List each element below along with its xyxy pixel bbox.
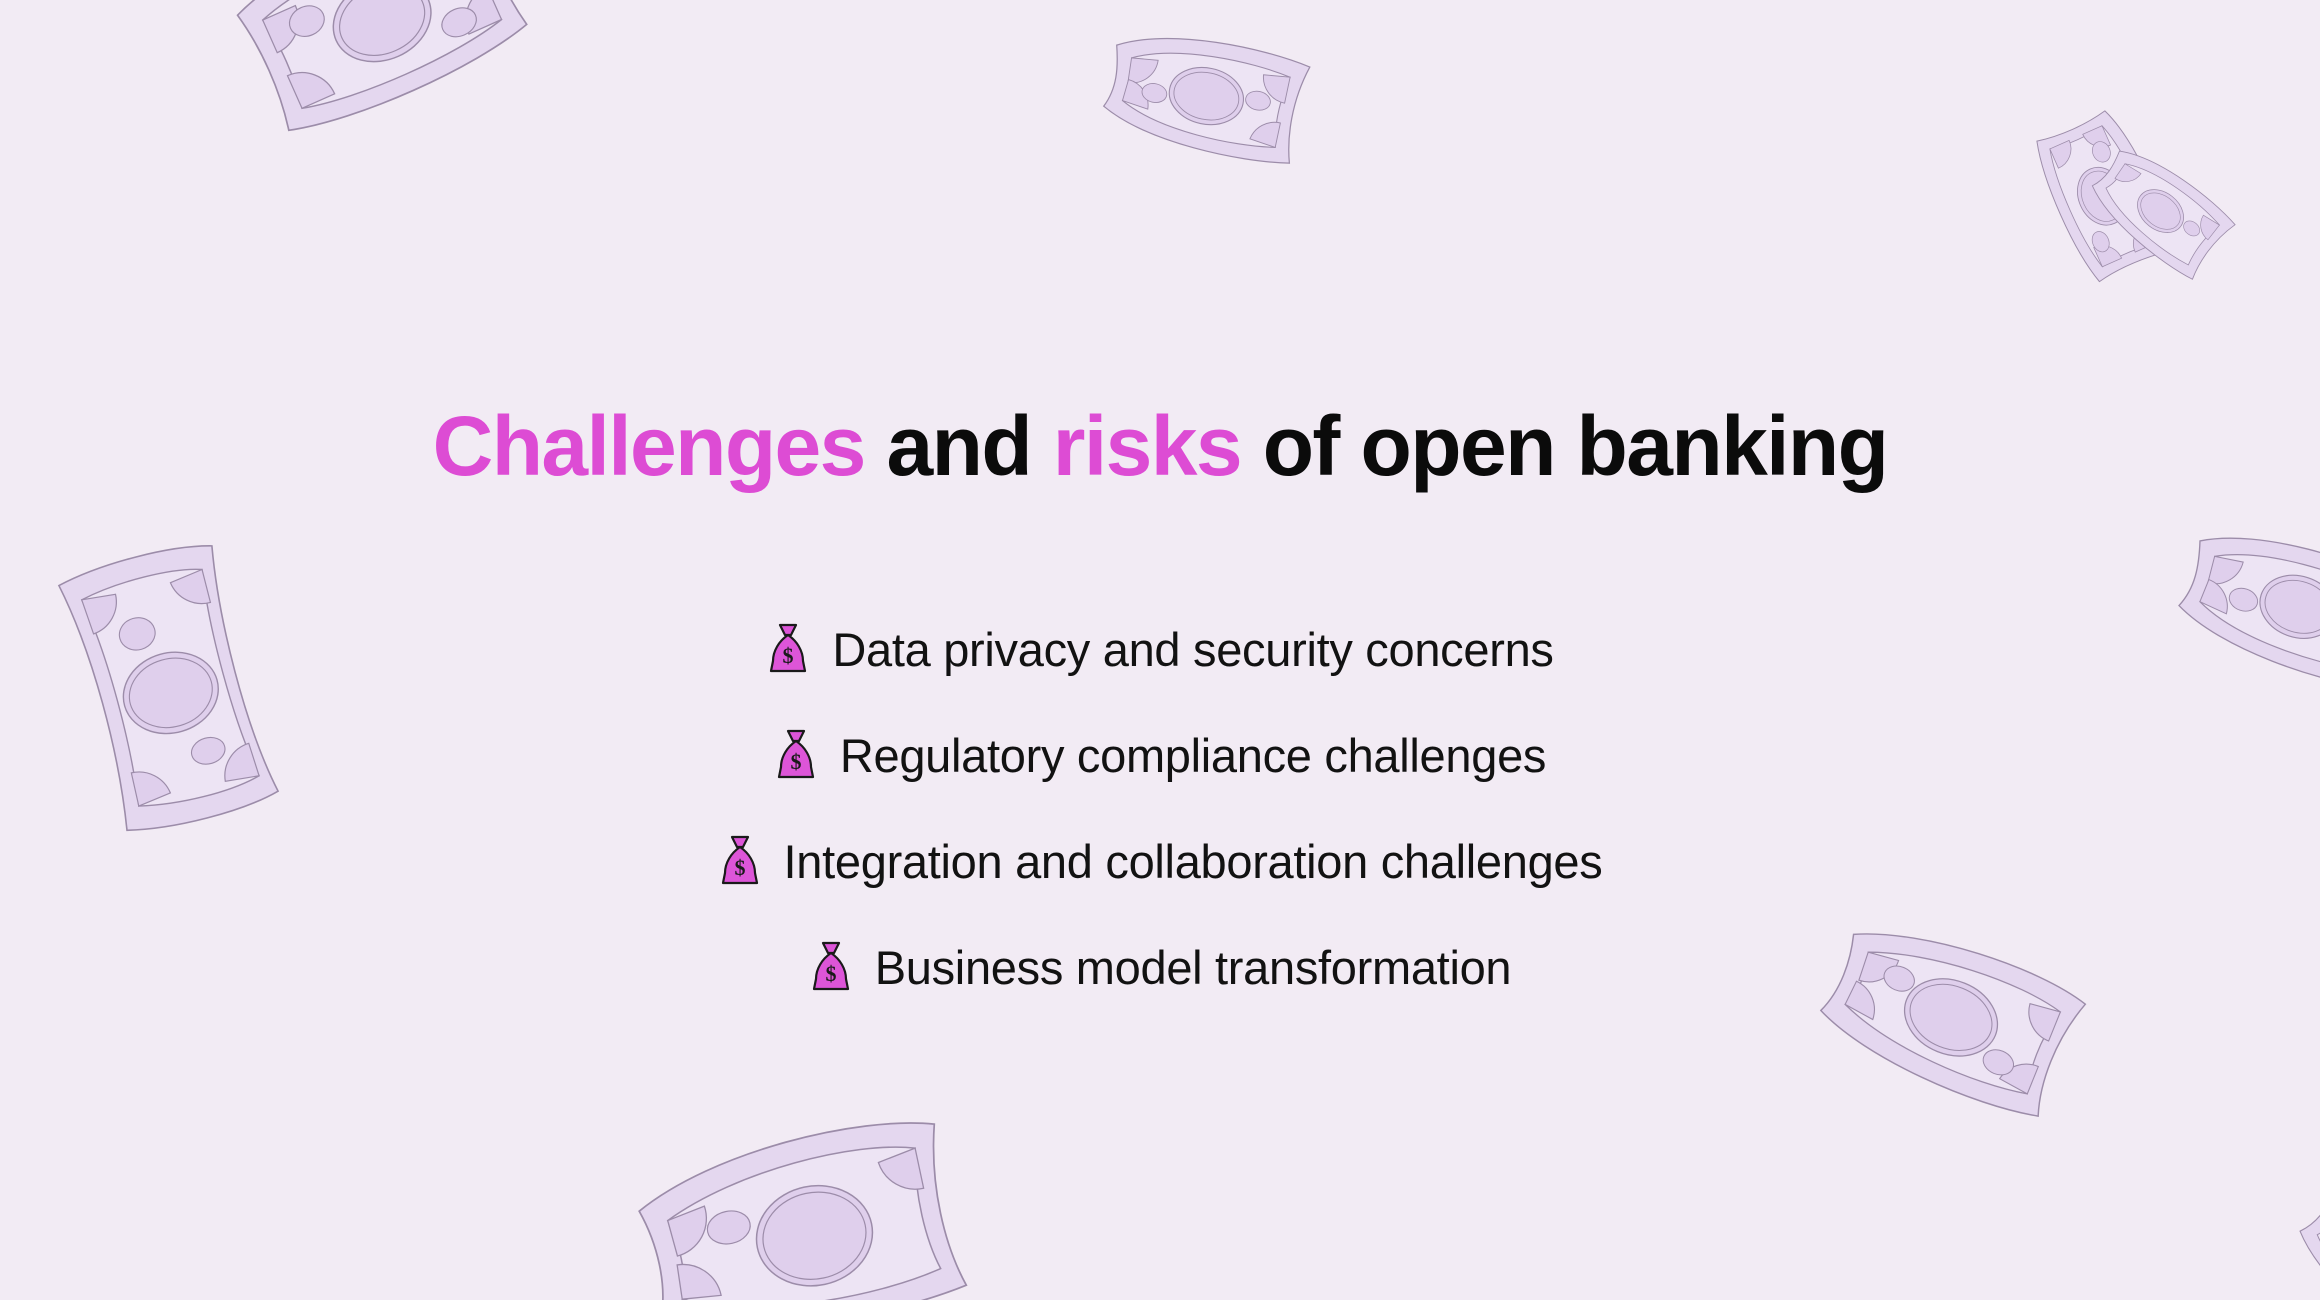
list-item-label: Integration and collaboration challenges — [784, 838, 1603, 885]
svg-text:$: $ — [734, 855, 745, 880]
money-bag-icon: $ — [718, 835, 762, 887]
list-item: $ Regulatory compliance challenges — [0, 702, 2320, 808]
svg-text:$: $ — [825, 961, 836, 986]
challenges-list: $ Data privacy and security concerns $ R… — [0, 596, 2320, 1020]
money-bag-icon: $ — [809, 941, 853, 993]
list-item-label: Regulatory compliance challenges — [840, 732, 1546, 779]
slide-content: Challenges and risks of open banking $ D… — [0, 0, 2320, 1300]
title-segment-accent-1: Challenges — [433, 399, 865, 493]
svg-text:$: $ — [783, 643, 794, 668]
title-segment-plain-2: of open banking — [1241, 399, 1887, 493]
svg-text:$: $ — [790, 749, 801, 774]
money-bag-icon: $ — [766, 623, 810, 675]
title-segment-accent-2: risks — [1053, 399, 1241, 493]
page-title: Challenges and risks of open banking — [0, 402, 2320, 491]
list-item-label: Data privacy and security concerns — [832, 626, 1553, 673]
title-segment-plain-1: and — [865, 399, 1053, 493]
list-item: $ Data privacy and security concerns — [0, 596, 2320, 702]
list-item: $ Integration and collaboration challeng… — [0, 808, 2320, 914]
money-bag-icon: $ — [774, 729, 818, 781]
list-item: $ Business model transformation — [0, 914, 2320, 1020]
list-item-label: Business model transformation — [875, 944, 1512, 991]
slide-canvas: Challenges and risks of open banking $ D… — [0, 0, 2320, 1300]
